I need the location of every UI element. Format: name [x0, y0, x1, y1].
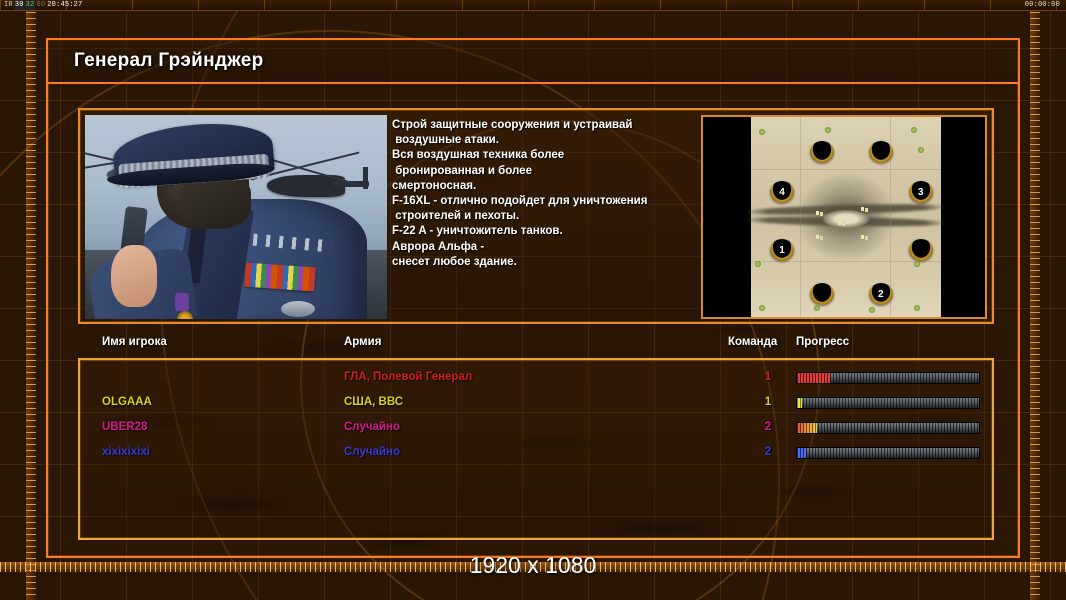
- table-row[interactable]: xixixixixiСлучайно2: [80, 443, 992, 467]
- progress-bar: [796, 397, 980, 409]
- player-team: 1: [760, 371, 776, 383]
- description-line: Строй защитные сооружения и устраивай: [392, 118, 704, 133]
- status-bar-left: IR30326020:45:27: [3, 1, 83, 10]
- status-timer: 00:00:00: [1025, 1, 1060, 10]
- progress-bar: [796, 447, 980, 459]
- player-list-headers: Имя игрока Армия Команда Прогресс: [80, 334, 992, 358]
- resolution-label: 1920 x 1080: [0, 552, 1066, 579]
- player-name: OLGAAA: [102, 396, 152, 408]
- map-start-position: 3: [909, 181, 933, 203]
- map-start-position: [810, 141, 834, 163]
- progress-bar-fill: [797, 398, 802, 408]
- progress-bar-fill: [797, 423, 817, 433]
- map-start-position: 1: [770, 239, 794, 261]
- status-clock: 20:45:27: [46, 1, 83, 10]
- player-army: Случайно: [344, 421, 400, 433]
- description-line: F-16XL - отлично подойдет для уничтожени…: [392, 194, 704, 209]
- player-army: США, ВВС: [344, 396, 403, 408]
- status-value-1: 30: [14, 1, 25, 10]
- general-info-panel: Строй защитные сооружения и устраивай во…: [78, 108, 994, 324]
- map-start-position: 2: [869, 283, 893, 305]
- status-ir-label: IR: [3, 1, 14, 10]
- table-row[interactable]: OLGAAAСША, ВВС1: [80, 393, 992, 417]
- description-line: снесет любое здание.: [392, 255, 704, 270]
- page-title: Генерал Грэйнджер: [74, 50, 264, 72]
- loading-screen: IR30326020:45:27 00:00:00 Генерал Грэйнд…: [0, 0, 1066, 600]
- progress-bar: [796, 372, 980, 384]
- player-team: 2: [760, 421, 776, 433]
- main-frame: Генерал Грэйнджер: [46, 38, 1020, 558]
- ruler-right: [1030, 0, 1040, 600]
- player-army: Случайно: [344, 446, 400, 458]
- header-army: Армия: [344, 336, 381, 348]
- description-line: смертоносная.: [392, 179, 704, 194]
- player-name: UBER28: [102, 421, 147, 433]
- description-line: Вся воздушная техника более: [392, 148, 704, 163]
- description-line: бронированная и более: [392, 164, 704, 179]
- player-name: xixixixixi: [102, 446, 150, 458]
- map-start-position: [909, 239, 933, 261]
- description-line: воздушные атаки.: [392, 133, 704, 148]
- player-list-panel: Имя игрока Армия Команда Прогресс ГЛА, П…: [78, 358, 994, 540]
- general-description: Строй защитные сооружения и устраивай во…: [392, 118, 704, 318]
- header-player-name: Имя игрока: [102, 336, 167, 348]
- title-bar: Генерал Грэйнджер: [48, 40, 1018, 84]
- progress-bar-fill: [797, 373, 830, 383]
- header-team: Команда: [728, 336, 777, 348]
- progress-bar-fill: [797, 448, 806, 458]
- table-row[interactable]: UBER28Случайно2: [80, 418, 992, 442]
- ruler-left: [26, 0, 36, 600]
- header-progress: Прогресс: [796, 336, 849, 348]
- player-team: 2: [760, 446, 776, 458]
- map-start-position: [869, 141, 893, 163]
- status-value-2: 32: [25, 1, 36, 10]
- map-terrain: 4312: [751, 117, 941, 317]
- description-line: Аврора Альфа -: [392, 240, 704, 255]
- status-value-3: 60: [35, 1, 46, 10]
- table-row[interactable]: ГЛА, Полевой Генерал1: [80, 368, 992, 392]
- map-start-position: 4: [770, 181, 794, 203]
- description-line: строителей и пехоты.: [392, 209, 704, 224]
- map-preview: 4312: [701, 115, 987, 319]
- player-army: ГЛА, Полевой Генерал: [344, 371, 472, 383]
- player-team: 1: [760, 396, 776, 408]
- description-line: F-22 A - уничтожитель танков.: [392, 224, 704, 239]
- map-start-position: [810, 283, 834, 305]
- progress-bar: [796, 422, 980, 434]
- general-portrait: [85, 115, 387, 319]
- status-bar: IR30326020:45:27 00:00:00: [0, 0, 1066, 11]
